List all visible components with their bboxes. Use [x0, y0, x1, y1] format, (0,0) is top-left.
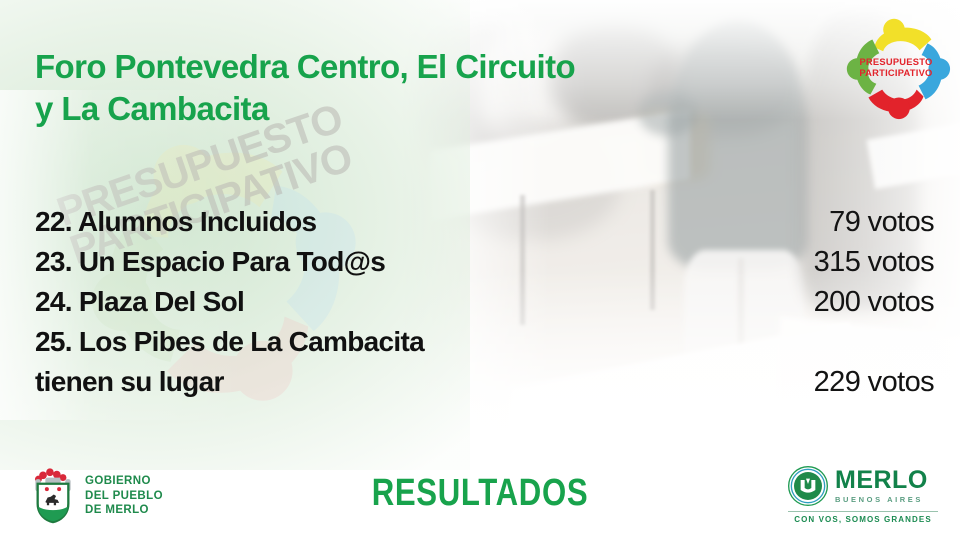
vote-count: 229 votos: [674, 362, 934, 402]
logo-merlo-municipality: MERLO BUENOS AIRES CON VOS, SOMOS GRANDE…: [788, 466, 938, 524]
list-item: 22. Alumnos Incluidos: [35, 202, 595, 242]
gobierno-line-3: DE MERLO: [85, 503, 163, 518]
slide-canvas: PRESUPUESTO PARTICIPATIVO PRESUPUESTO PA…: [0, 0, 960, 540]
svg-text:PRESUPUESTO: PRESUPUESTO: [859, 57, 932, 67]
logo-gobierno-text: GOBIERNO DEL PUEBLO DE MERLO: [85, 474, 163, 518]
gobierno-line-2: DEL PUEBLO: [85, 489, 163, 504]
page-title-line-2: y La Cambacita: [35, 88, 655, 130]
list-item: 23. Un Espacio Para Tod@s: [35, 242, 595, 282]
merlo-tagline: CON VOS, SOMOS GRANDES: [788, 515, 938, 524]
list-item: 24. Plaza Del Sol: [35, 282, 595, 322]
project-list: 22. Alumnos Incluidos 23. Un Espacio Par…: [35, 202, 595, 402]
merlo-divider: [788, 511, 938, 512]
gobierno-line-1: GOBIERNO: [85, 474, 163, 489]
list-item-continuation: tienen su lugar: [35, 362, 595, 402]
page-title: Foro Pontevedra Centro, El Circuito y La…: [35, 46, 655, 130]
pinwheel-people-icon: PRESUPUESTO PARTICIPATIVO: [836, 6, 954, 126]
merlo-subtitle: BUENOS AIRES: [835, 495, 928, 504]
vote-count-list: 79 votos 315 votos 200 votos 229 votos: [674, 202, 934, 402]
footer-heading: RESULTADOS: [86, 472, 873, 515]
svg-text:PARTICIPATIVO: PARTICIPATIVO: [859, 68, 932, 78]
merlo-coat-of-arms-icon: [30, 468, 76, 524]
merlo-word: MERLO: [835, 468, 928, 493]
logo-presupuesto-participativo: PRESUPUESTO PARTICIPATIVO: [836, 6, 954, 126]
vote-count: 315 votos: [674, 242, 934, 282]
vote-count: 79 votos: [674, 202, 934, 242]
list-item: 25. Los Pibes de La Cambacita: [35, 322, 595, 362]
vote-spacer: [674, 322, 934, 362]
logo-gobierno-merlo: GOBIERNO DEL PUEBLO DE MERLO: [30, 468, 163, 524]
merlo-wordmark: MERLO BUENOS AIRES: [835, 468, 928, 504]
merlo-logo-row: MERLO BUENOS AIRES: [788, 466, 938, 506]
page-title-line-1: Foro Pontevedra Centro, El Circuito: [35, 46, 655, 88]
merlo-m-monogram-icon: [788, 466, 828, 506]
vote-count: 200 votos: [674, 282, 934, 322]
